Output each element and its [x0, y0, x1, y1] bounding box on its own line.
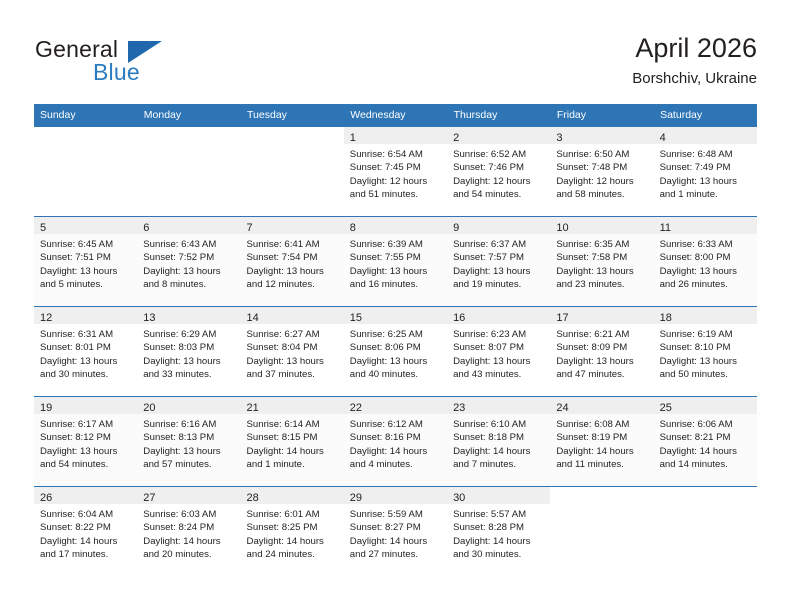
sunset-time: Sunset: 7:48 PM: [556, 161, 648, 174]
general-blue-logo[interactable]: General Blue: [35, 36, 235, 88]
calendar-day-cell[interactable]: 18Sunrise: 6:19 AMSunset: 8:10 PMDayligh…: [654, 307, 757, 397]
day-number-band: [241, 127, 344, 144]
day-details: Sunrise: 5:59 AMSunset: 8:27 PMDaylight:…: [344, 504, 447, 561]
day-details: Sunrise: 6:48 AMSunset: 7:49 PMDaylight:…: [654, 144, 757, 201]
daylight-duration-line2: and 7 minutes.: [453, 458, 545, 471]
day-details: Sunrise: 5:57 AMSunset: 8:28 PMDaylight:…: [447, 504, 550, 561]
day-number-band: 1: [344, 127, 447, 144]
day-cell: 6Sunrise: 6:43 AMSunset: 7:52 PMDaylight…: [137, 217, 240, 306]
sunrise-time: Sunrise: 6:54 AM: [350, 148, 442, 161]
day-number: 12: [40, 312, 52, 324]
daylight-duration-line2: and 47 minutes.: [556, 368, 648, 381]
day-details: Sunrise: 6:25 AMSunset: 8:06 PMDaylight:…: [344, 324, 447, 381]
calendar-day-cell[interactable]: 7Sunrise: 6:41 AMSunset: 7:54 PMDaylight…: [241, 217, 344, 307]
sunrise-time: Sunrise: 6:29 AM: [143, 328, 235, 341]
calendar-day-cell[interactable]: 19Sunrise: 6:17 AMSunset: 8:12 PMDayligh…: [34, 397, 137, 487]
day-number-band: 2: [447, 127, 550, 144]
day-cell: 9Sunrise: 6:37 AMSunset: 7:57 PMDaylight…: [447, 217, 550, 306]
day-number-band: 11: [654, 217, 757, 234]
day-cell: 1Sunrise: 6:54 AMSunset: 7:45 PMDaylight…: [344, 127, 447, 216]
day-number: 30: [453, 492, 465, 504]
daylight-duration-line2: and 11 minutes.: [556, 458, 648, 471]
sunrise-time: Sunrise: 6:14 AM: [247, 418, 339, 431]
daylight-duration-line1: Daylight: 14 hours: [143, 535, 235, 548]
daylight-duration-line2: and 51 minutes.: [350, 188, 442, 201]
day-number-band: 14: [241, 307, 344, 324]
sunrise-time: Sunrise: 6:33 AM: [660, 238, 752, 251]
day-cell: 24Sunrise: 6:08 AMSunset: 8:19 PMDayligh…: [550, 397, 653, 486]
sunrise-time: Sunrise: 6:39 AM: [350, 238, 442, 251]
sunset-time: Sunset: 8:04 PM: [247, 341, 339, 354]
sunset-time: Sunset: 8:15 PM: [247, 431, 339, 444]
day-details: Sunrise: 6:35 AMSunset: 7:58 PMDaylight:…: [550, 234, 653, 291]
day-details: Sunrise: 6:17 AMSunset: 8:12 PMDaylight:…: [34, 414, 137, 471]
day-number-band: 25: [654, 397, 757, 414]
day-cell: 15Sunrise: 6:25 AMSunset: 8:06 PMDayligh…: [344, 307, 447, 396]
calendar-day-cell[interactable]: 27Sunrise: 6:03 AMSunset: 8:24 PMDayligh…: [137, 487, 240, 577]
empty-day-cell: [34, 127, 137, 216]
sunrise-time: Sunrise: 6:12 AM: [350, 418, 442, 431]
day-number-band: 3: [550, 127, 653, 144]
day-number: 17: [556, 312, 568, 324]
day-details: Sunrise: 6:37 AMSunset: 7:57 PMDaylight:…: [447, 234, 550, 291]
sunset-time: Sunset: 8:27 PM: [350, 521, 442, 534]
day-details: Sunrise: 6:54 AMSunset: 7:45 PMDaylight:…: [344, 144, 447, 201]
calendar-table: Sunday Monday Tuesday Wednesday Thursday…: [34, 104, 757, 576]
day-cell: 11Sunrise: 6:33 AMSunset: 8:00 PMDayligh…: [654, 217, 757, 306]
daylight-duration-line1: Daylight: 14 hours: [40, 535, 132, 548]
calendar-header-row: Sunday Monday Tuesday Wednesday Thursday…: [34, 104, 757, 127]
daylight-duration-line1: Daylight: 13 hours: [453, 265, 545, 278]
daylight-duration-line1: Daylight: 14 hours: [453, 445, 545, 458]
sunset-time: Sunset: 8:16 PM: [350, 431, 442, 444]
day-number: 1: [350, 132, 356, 144]
sunrise-time: Sunrise: 6:52 AM: [453, 148, 545, 161]
sunset-time: Sunset: 8:00 PM: [660, 251, 752, 264]
weekday-header-sunday: Sunday: [34, 104, 137, 127]
day-cell: 14Sunrise: 6:27 AMSunset: 8:04 PMDayligh…: [241, 307, 344, 396]
page-header: General Blue April 2026 Borshchiv, Ukrai…: [0, 0, 792, 100]
day-number-band: 5: [34, 217, 137, 234]
calendar-day-cell: [550, 487, 653, 577]
calendar-day-cell[interactable]: 16Sunrise: 6:23 AMSunset: 8:07 PMDayligh…: [447, 307, 550, 397]
day-cell: 10Sunrise: 6:35 AMSunset: 7:58 PMDayligh…: [550, 217, 653, 306]
day-details: Sunrise: 6:04 AMSunset: 8:22 PMDaylight:…: [34, 504, 137, 561]
daylight-duration-line1: Daylight: 13 hours: [247, 265, 339, 278]
day-number: 15: [350, 312, 362, 324]
sunset-time: Sunset: 8:09 PM: [556, 341, 648, 354]
calendar-day-cell[interactable]: 29Sunrise: 5:59 AMSunset: 8:27 PMDayligh…: [344, 487, 447, 577]
day-cell: 25Sunrise: 6:06 AMSunset: 8:21 PMDayligh…: [654, 397, 757, 486]
day-number: 24: [556, 402, 568, 414]
calendar-page: General Blue April 2026 Borshchiv, Ukrai…: [0, 0, 792, 612]
sunset-time: Sunset: 8:24 PM: [143, 521, 235, 534]
calendar-day-cell[interactable]: 20Sunrise: 6:16 AMSunset: 8:13 PMDayligh…: [137, 397, 240, 487]
calendar-day-cell[interactable]: 13Sunrise: 6:29 AMSunset: 8:03 PMDayligh…: [137, 307, 240, 397]
day-number: 2: [453, 132, 459, 144]
day-number-band: 10: [550, 217, 653, 234]
calendar-day-cell[interactable]: 15Sunrise: 6:25 AMSunset: 8:06 PMDayligh…: [344, 307, 447, 397]
weekday-header-friday: Friday: [550, 104, 653, 127]
sunset-time: Sunset: 7:51 PM: [40, 251, 132, 264]
sunset-time: Sunset: 7:58 PM: [556, 251, 648, 264]
daylight-duration-line1: Daylight: 14 hours: [556, 445, 648, 458]
sunset-time: Sunset: 8:01 PM: [40, 341, 132, 354]
day-number-band: [137, 127, 240, 144]
daylight-duration-line2: and 57 minutes.: [143, 458, 235, 471]
day-details: Sunrise: 6:45 AMSunset: 7:51 PMDaylight:…: [34, 234, 137, 291]
sunset-time: Sunset: 7:52 PM: [143, 251, 235, 264]
sunrise-time: Sunrise: 6:50 AM: [556, 148, 648, 161]
day-details: Sunrise: 6:01 AMSunset: 8:25 PMDaylight:…: [241, 504, 344, 561]
sunrise-time: Sunrise: 6:19 AM: [660, 328, 752, 341]
daylight-duration-line1: Daylight: 13 hours: [453, 355, 545, 368]
daylight-duration-line2: and 30 minutes.: [40, 368, 132, 381]
day-number-band: 17: [550, 307, 653, 324]
day-details: Sunrise: 6:23 AMSunset: 8:07 PMDaylight:…: [447, 324, 550, 381]
calendar-day-cell[interactable]: 24Sunrise: 6:08 AMSunset: 8:19 PMDayligh…: [550, 397, 653, 487]
daylight-duration-line2: and 20 minutes.: [143, 548, 235, 561]
daylight-duration-line2: and 26 minutes.: [660, 278, 752, 291]
calendar-day-cell[interactable]: 30Sunrise: 5:57 AMSunset: 8:28 PMDayligh…: [447, 487, 550, 577]
daylight-duration-line1: Daylight: 14 hours: [453, 535, 545, 548]
sunset-time: Sunset: 8:19 PM: [556, 431, 648, 444]
sunrise-time: Sunrise: 6:25 AM: [350, 328, 442, 341]
page-title: April 2026: [632, 32, 757, 64]
calendar-day-cell[interactable]: 5Sunrise: 6:45 AMSunset: 7:51 PMDaylight…: [34, 217, 137, 307]
daylight-duration-line2: and 12 minutes.: [247, 278, 339, 291]
day-number-band: 30: [447, 487, 550, 504]
day-details: Sunrise: 6:12 AMSunset: 8:16 PMDaylight:…: [344, 414, 447, 471]
day-cell: 27Sunrise: 6:03 AMSunset: 8:24 PMDayligh…: [137, 487, 240, 576]
daylight-duration-line2: and 16 minutes.: [350, 278, 442, 291]
day-number-band: 28: [241, 487, 344, 504]
daylight-duration-line1: Daylight: 13 hours: [556, 355, 648, 368]
sunset-time: Sunset: 8:28 PM: [453, 521, 545, 534]
day-number: 3: [556, 132, 562, 144]
calendar-day-cell[interactable]: 1Sunrise: 6:54 AMSunset: 7:45 PMDaylight…: [344, 127, 447, 217]
day-details: Sunrise: 6:43 AMSunset: 7:52 PMDaylight:…: [137, 234, 240, 291]
day-number-band: 9: [447, 217, 550, 234]
day-number: 27: [143, 492, 155, 504]
day-number: 26: [40, 492, 52, 504]
day-cell: 23Sunrise: 6:10 AMSunset: 8:18 PMDayligh…: [447, 397, 550, 486]
daylight-duration-line1: Daylight: 14 hours: [350, 445, 442, 458]
day-number: 28: [247, 492, 259, 504]
calendar-day-cell[interactable]: 3Sunrise: 6:50 AMSunset: 7:48 PMDaylight…: [550, 127, 653, 217]
day-details: Sunrise: 6:16 AMSunset: 8:13 PMDaylight:…: [137, 414, 240, 471]
sunset-time: Sunset: 8:03 PM: [143, 341, 235, 354]
day-details: Sunrise: 6:10 AMSunset: 8:18 PMDaylight:…: [447, 414, 550, 471]
empty-day-cell: [550, 487, 653, 576]
title-block: April 2026 Borshchiv, Ukraine: [632, 32, 757, 88]
daylight-duration-line1: Daylight: 13 hours: [660, 265, 752, 278]
day-cell: 7Sunrise: 6:41 AMSunset: 7:54 PMDaylight…: [241, 217, 344, 306]
day-number: 9: [453, 222, 459, 234]
calendar-day-cell[interactable]: 26Sunrise: 6:04 AMSunset: 8:22 PMDayligh…: [34, 487, 137, 577]
sunrise-time: Sunrise: 6:48 AM: [660, 148, 752, 161]
calendar-week-row: 5Sunrise: 6:45 AMSunset: 7:51 PMDaylight…: [34, 217, 757, 307]
daylight-duration-line2: and 8 minutes.: [143, 278, 235, 291]
daylight-duration-line1: Daylight: 14 hours: [247, 535, 339, 548]
day-number-band: 27: [137, 487, 240, 504]
day-number-band: 26: [34, 487, 137, 504]
daylight-duration-line1: Daylight: 14 hours: [660, 445, 752, 458]
day-number: 7: [247, 222, 253, 234]
day-number: 29: [350, 492, 362, 504]
day-cell: 3Sunrise: 6:50 AMSunset: 7:48 PMDaylight…: [550, 127, 653, 216]
day-number-band: 19: [34, 397, 137, 414]
calendar-day-cell: [34, 127, 137, 217]
day-cell: 17Sunrise: 6:21 AMSunset: 8:09 PMDayligh…: [550, 307, 653, 396]
day-details: Sunrise: 6:27 AMSunset: 8:04 PMDaylight:…: [241, 324, 344, 381]
empty-day-cell: [137, 127, 240, 216]
day-details: Sunrise: 6:52 AMSunset: 7:46 PMDaylight:…: [447, 144, 550, 201]
daylight-duration-line2: and 14 minutes.: [660, 458, 752, 471]
sunrise-time: Sunrise: 6:01 AM: [247, 508, 339, 521]
daylight-duration-line1: Daylight: 13 hours: [143, 355, 235, 368]
logo-text-blue: Blue: [93, 59, 140, 86]
calendar-day-cell[interactable]: 4Sunrise: 6:48 AMSunset: 7:49 PMDaylight…: [654, 127, 757, 217]
sunset-time: Sunset: 8:10 PM: [660, 341, 752, 354]
calendar-day-cell[interactable]: 10Sunrise: 6:35 AMSunset: 7:58 PMDayligh…: [550, 217, 653, 307]
day-cell: 12Sunrise: 6:31 AMSunset: 8:01 PMDayligh…: [34, 307, 137, 396]
daylight-duration-line1: Daylight: 13 hours: [40, 445, 132, 458]
day-number: 5: [40, 222, 46, 234]
calendar-day-cell[interactable]: 8Sunrise: 6:39 AMSunset: 7:55 PMDaylight…: [344, 217, 447, 307]
daylight-duration-line1: Daylight: 12 hours: [453, 175, 545, 188]
empty-day-cell: [241, 127, 344, 216]
sunset-time: Sunset: 8:12 PM: [40, 431, 132, 444]
day-number-band: 23: [447, 397, 550, 414]
day-number: 19: [40, 402, 52, 414]
sunrise-time: Sunrise: 6:21 AM: [556, 328, 648, 341]
calendar-day-cell[interactable]: 22Sunrise: 6:12 AMSunset: 8:16 PMDayligh…: [344, 397, 447, 487]
calendar-week-row: 12Sunrise: 6:31 AMSunset: 8:01 PMDayligh…: [34, 307, 757, 397]
weekday-header-saturday: Saturday: [654, 104, 757, 127]
sunset-time: Sunset: 8:18 PM: [453, 431, 545, 444]
day-number-band: 12: [34, 307, 137, 324]
day-number-band: 21: [241, 397, 344, 414]
weekday-header-thursday: Thursday: [447, 104, 550, 127]
daylight-duration-line2: and 54 minutes.: [40, 458, 132, 471]
daylight-duration-line2: and 24 minutes.: [247, 548, 339, 561]
day-number: 20: [143, 402, 155, 414]
sunrise-time: Sunrise: 6:27 AM: [247, 328, 339, 341]
daylight-duration-line2: and 30 minutes.: [453, 548, 545, 561]
sunset-time: Sunset: 8:22 PM: [40, 521, 132, 534]
day-details: Sunrise: 6:14 AMSunset: 8:15 PMDaylight:…: [241, 414, 344, 471]
day-cell: 19Sunrise: 6:17 AMSunset: 8:12 PMDayligh…: [34, 397, 137, 486]
calendar-day-cell: [241, 127, 344, 217]
sunrise-time: Sunrise: 6:43 AM: [143, 238, 235, 251]
day-number: 6: [143, 222, 149, 234]
daylight-duration-line1: Daylight: 13 hours: [660, 355, 752, 368]
sunset-time: Sunset: 7:45 PM: [350, 161, 442, 174]
sunrise-time: Sunrise: 6:45 AM: [40, 238, 132, 251]
sunrise-time: Sunrise: 5:59 AM: [350, 508, 442, 521]
day-cell: 18Sunrise: 6:19 AMSunset: 8:10 PMDayligh…: [654, 307, 757, 396]
sunrise-time: Sunrise: 6:41 AM: [247, 238, 339, 251]
day-number-band: 4: [654, 127, 757, 144]
sunrise-time: Sunrise: 6:31 AM: [40, 328, 132, 341]
day-number-band: 16: [447, 307, 550, 324]
daylight-duration-line1: Daylight: 12 hours: [556, 175, 648, 188]
weekday-header-tuesday: Tuesday: [241, 104, 344, 127]
day-details: Sunrise: 6:21 AMSunset: 8:09 PMDaylight:…: [550, 324, 653, 381]
calendar-day-cell[interactable]: 2Sunrise: 6:52 AMSunset: 7:46 PMDaylight…: [447, 127, 550, 217]
day-number: 22: [350, 402, 362, 414]
sunrise-time: Sunrise: 6:23 AM: [453, 328, 545, 341]
calendar-week-row: 26Sunrise: 6:04 AMSunset: 8:22 PMDayligh…: [34, 487, 757, 577]
calendar-week-row: 1Sunrise: 6:54 AMSunset: 7:45 PMDaylight…: [34, 127, 757, 217]
day-details: Sunrise: 6:33 AMSunset: 8:00 PMDaylight:…: [654, 234, 757, 291]
page-subtitle: Borshchiv, Ukraine: [632, 70, 757, 88]
day-details: Sunrise: 6:08 AMSunset: 8:19 PMDaylight:…: [550, 414, 653, 471]
daylight-duration-line1: Daylight: 13 hours: [40, 265, 132, 278]
day-number: 23: [453, 402, 465, 414]
sunset-time: Sunset: 7:54 PM: [247, 251, 339, 264]
day-number-band: 6: [137, 217, 240, 234]
sunrise-time: Sunrise: 6:35 AM: [556, 238, 648, 251]
day-details: Sunrise: 6:41 AMSunset: 7:54 PMDaylight:…: [241, 234, 344, 291]
weekday-header-monday: Monday: [137, 104, 240, 127]
day-details: Sunrise: 6:50 AMSunset: 7:48 PMDaylight:…: [550, 144, 653, 201]
day-cell: 22Sunrise: 6:12 AMSunset: 8:16 PMDayligh…: [344, 397, 447, 486]
sunset-time: Sunset: 8:06 PM: [350, 341, 442, 354]
day-cell: 2Sunrise: 6:52 AMSunset: 7:46 PMDaylight…: [447, 127, 550, 216]
day-details: Sunrise: 6:06 AMSunset: 8:21 PMDaylight:…: [654, 414, 757, 471]
calendar-day-cell[interactable]: 28Sunrise: 6:01 AMSunset: 8:25 PMDayligh…: [241, 487, 344, 577]
day-number-band: 24: [550, 397, 653, 414]
day-number: 8: [350, 222, 356, 234]
weekday-header-wednesday: Wednesday: [344, 104, 447, 127]
day-number-band: [34, 127, 137, 144]
calendar-day-cell[interactable]: 6Sunrise: 6:43 AMSunset: 7:52 PMDaylight…: [137, 217, 240, 307]
day-number: 16: [453, 312, 465, 324]
daylight-duration-line1: Daylight: 13 hours: [247, 355, 339, 368]
day-cell: 29Sunrise: 5:59 AMSunset: 8:27 PMDayligh…: [344, 487, 447, 576]
calendar-day-cell: [654, 487, 757, 577]
daylight-duration-line1: Daylight: 13 hours: [350, 355, 442, 368]
sunset-time: Sunset: 8:25 PM: [247, 521, 339, 534]
sunrise-time: Sunrise: 6:17 AM: [40, 418, 132, 431]
day-number-band: 13: [137, 307, 240, 324]
daylight-duration-line2: and 23 minutes.: [556, 278, 648, 291]
daylight-duration-line1: Daylight: 13 hours: [556, 265, 648, 278]
day-cell: 4Sunrise: 6:48 AMSunset: 7:49 PMDaylight…: [654, 127, 757, 216]
daylight-duration-line1: Daylight: 12 hours: [350, 175, 442, 188]
day-number: 4: [660, 132, 666, 144]
calendar-body: 1Sunrise: 6:54 AMSunset: 7:45 PMDaylight…: [34, 127, 757, 577]
sunrise-time: Sunrise: 6:08 AM: [556, 418, 648, 431]
calendar-day-cell[interactable]: 14Sunrise: 6:27 AMSunset: 8:04 PMDayligh…: [241, 307, 344, 397]
daylight-duration-line2: and 17 minutes.: [40, 548, 132, 561]
day-cell: 8Sunrise: 6:39 AMSunset: 7:55 PMDaylight…: [344, 217, 447, 306]
daylight-duration-line2: and 1 minute.: [660, 188, 752, 201]
day-details: Sunrise: 6:29 AMSunset: 8:03 PMDaylight:…: [137, 324, 240, 381]
sunrise-time: Sunrise: 6:37 AM: [453, 238, 545, 251]
daylight-duration-line2: and 50 minutes.: [660, 368, 752, 381]
calendar-day-cell[interactable]: 21Sunrise: 6:14 AMSunset: 8:15 PMDayligh…: [241, 397, 344, 487]
sunset-time: Sunset: 7:57 PM: [453, 251, 545, 264]
daylight-duration-line2: and 27 minutes.: [350, 548, 442, 561]
day-number: 25: [660, 402, 672, 414]
empty-day-cell: [654, 487, 757, 576]
calendar-day-cell[interactable]: 11Sunrise: 6:33 AMSunset: 8:00 PMDayligh…: [654, 217, 757, 307]
day-details: Sunrise: 6:31 AMSunset: 8:01 PMDaylight:…: [34, 324, 137, 381]
daylight-duration-line2: and 5 minutes.: [40, 278, 132, 291]
sunset-time: Sunset: 8:07 PM: [453, 341, 545, 354]
sunrise-time: Sunrise: 6:16 AM: [143, 418, 235, 431]
day-number-band: 22: [344, 397, 447, 414]
calendar-day-cell[interactable]: 9Sunrise: 6:37 AMSunset: 7:57 PMDaylight…: [447, 217, 550, 307]
day-number-band: 20: [137, 397, 240, 414]
daylight-duration-line2: and 19 minutes.: [453, 278, 545, 291]
sunset-time: Sunset: 8:21 PM: [660, 431, 752, 444]
day-cell: 5Sunrise: 6:45 AMSunset: 7:51 PMDaylight…: [34, 217, 137, 306]
day-number: 21: [247, 402, 259, 414]
day-number: 11: [660, 222, 671, 234]
day-cell: 26Sunrise: 6:04 AMSunset: 8:22 PMDayligh…: [34, 487, 137, 576]
day-number-band: 15: [344, 307, 447, 324]
daylight-duration-line2: and 40 minutes.: [350, 368, 442, 381]
sunrise-time: Sunrise: 6:03 AM: [143, 508, 235, 521]
calendar-day-cell[interactable]: 23Sunrise: 6:10 AMSunset: 8:18 PMDayligh…: [447, 397, 550, 487]
calendar-day-cell[interactable]: 17Sunrise: 6:21 AMSunset: 8:09 PMDayligh…: [550, 307, 653, 397]
day-number: 14: [247, 312, 259, 324]
sunrise-time: Sunrise: 5:57 AM: [453, 508, 545, 521]
day-number-band: [654, 487, 757, 504]
day-cell: 16Sunrise: 6:23 AMSunset: 8:07 PMDayligh…: [447, 307, 550, 396]
sunrise-time: Sunrise: 6:06 AM: [660, 418, 752, 431]
calendar-day-cell[interactable]: 25Sunrise: 6:06 AMSunset: 8:21 PMDayligh…: [654, 397, 757, 487]
daylight-duration-line1: Daylight: 13 hours: [143, 445, 235, 458]
sunset-time: Sunset: 7:46 PM: [453, 161, 545, 174]
sunset-time: Sunset: 7:49 PM: [660, 161, 752, 174]
daylight-duration-line1: Daylight: 13 hours: [660, 175, 752, 188]
daylight-duration-line2: and 33 minutes.: [143, 368, 235, 381]
daylight-duration-line1: Daylight: 14 hours: [350, 535, 442, 548]
daylight-duration-line2: and 4 minutes.: [350, 458, 442, 471]
daylight-duration-line2: and 54 minutes.: [453, 188, 545, 201]
calendar-week-row: 19Sunrise: 6:17 AMSunset: 8:12 PMDayligh…: [34, 397, 757, 487]
day-cell: 28Sunrise: 6:01 AMSunset: 8:25 PMDayligh…: [241, 487, 344, 576]
day-number-band: 29: [344, 487, 447, 504]
calendar-day-cell: [137, 127, 240, 217]
day-cell: 30Sunrise: 5:57 AMSunset: 8:28 PMDayligh…: [447, 487, 550, 576]
day-number-band: 7: [241, 217, 344, 234]
day-number-band: 8: [344, 217, 447, 234]
day-details: Sunrise: 6:03 AMSunset: 8:24 PMDaylight:…: [137, 504, 240, 561]
sunrise-time: Sunrise: 6:10 AM: [453, 418, 545, 431]
day-cell: 13Sunrise: 6:29 AMSunset: 8:03 PMDayligh…: [137, 307, 240, 396]
daylight-duration-line1: Daylight: 14 hours: [247, 445, 339, 458]
day-number-band: [550, 487, 653, 504]
daylight-duration-line2: and 1 minute.: [247, 458, 339, 471]
daylight-duration-line2: and 43 minutes.: [453, 368, 545, 381]
day-number-band: 18: [654, 307, 757, 324]
day-cell: 20Sunrise: 6:16 AMSunset: 8:13 PMDayligh…: [137, 397, 240, 486]
day-number: 13: [143, 312, 155, 324]
daylight-duration-line1: Daylight: 13 hours: [350, 265, 442, 278]
sunrise-time: Sunrise: 6:04 AM: [40, 508, 132, 521]
daylight-duration-line2: and 58 minutes.: [556, 188, 648, 201]
calendar-day-cell[interactable]: 12Sunrise: 6:31 AMSunset: 8:01 PMDayligh…: [34, 307, 137, 397]
sunset-time: Sunset: 8:13 PM: [143, 431, 235, 444]
day-details: Sunrise: 6:39 AMSunset: 7:55 PMDaylight:…: [344, 234, 447, 291]
day-cell: 21Sunrise: 6:14 AMSunset: 8:15 PMDayligh…: [241, 397, 344, 486]
